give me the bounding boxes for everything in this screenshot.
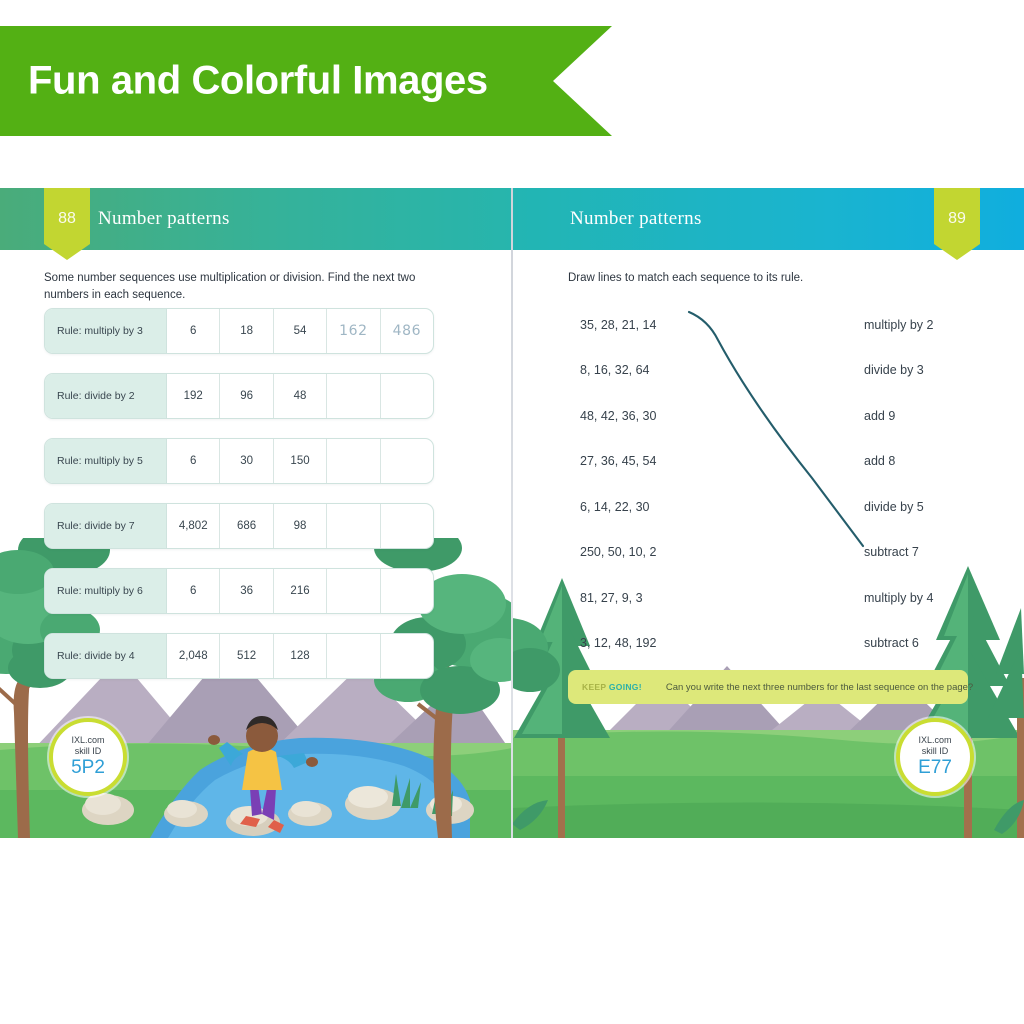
sequence-item[interactable]: 35, 28, 21, 14 xyxy=(580,302,656,348)
number-cell[interactable]: 192 xyxy=(167,374,220,418)
sequence-row: Rule: multiply by 6636216 xyxy=(44,568,434,614)
instruction-right: Draw lines to match each sequence to its… xyxy=(568,270,968,287)
page-title-right: Number patterns xyxy=(570,208,702,230)
ixl-skill-badge-left: IXL.com skill ID 5P2 xyxy=(49,718,127,796)
number-cell[interactable]: 686 xyxy=(220,504,273,548)
sequence-item[interactable]: 8, 16, 32, 64 xyxy=(580,348,656,394)
answer-cell[interactable]: 162 xyxy=(327,309,380,353)
sequence-item[interactable]: 48, 42, 36, 30 xyxy=(580,393,656,439)
rule-cell: Rule: multiply by 5 xyxy=(45,439,167,483)
rule-cell: Rule: multiply by 3 xyxy=(45,309,167,353)
number-cell[interactable] xyxy=(327,504,380,548)
rule-item[interactable]: multiply by 4 xyxy=(864,575,933,621)
number-cell[interactable]: 30 xyxy=(220,439,273,483)
sequence-row: Rule: divide by 21929648 xyxy=(44,373,434,419)
rule-item[interactable]: divide by 3 xyxy=(864,348,933,394)
rule-cell: Rule: divide by 7 xyxy=(45,504,167,548)
number-cell[interactable]: 36 xyxy=(220,569,273,613)
sequence-item[interactable]: 250, 50, 10, 2 xyxy=(580,530,656,576)
sequence-row: Rule: multiply by 361854162486 xyxy=(44,308,434,354)
sequence-item[interactable]: 27, 36, 45, 54 xyxy=(580,439,656,485)
number-cell[interactable] xyxy=(381,504,433,548)
number-cell[interactable] xyxy=(381,569,433,613)
rule-cell: Rule: divide by 4 xyxy=(45,634,167,678)
keep-going-label-first: KEEP xyxy=(582,682,606,692)
badge-skill-id-right: E77 xyxy=(918,758,952,779)
sequence-row: Rule: multiply by 5630150 xyxy=(44,438,434,484)
rule-item[interactable]: subtract 6 xyxy=(864,621,933,667)
sequence-row: Rule: divide by 42,048512128 xyxy=(44,633,434,679)
sequence-table: Rule: multiply by 361854162486Rule: divi… xyxy=(44,308,434,698)
badge-label-right: skill ID xyxy=(922,746,949,757)
keep-going-label: KEEP GOING! xyxy=(568,682,642,692)
rule-cell: Rule: divide by 2 xyxy=(45,374,167,418)
badge-site-right: IXL.com xyxy=(918,735,951,746)
badge-label-left: skill ID xyxy=(75,746,102,757)
keep-going-callout: KEEP GOING! Can you write the next three… xyxy=(568,670,968,704)
number-cell[interactable] xyxy=(381,439,433,483)
badge-site-left: IXL.com xyxy=(71,735,104,746)
number-cell[interactable] xyxy=(327,634,380,678)
page-number-right: 89 xyxy=(934,210,980,228)
sequence-list: 35, 28, 21, 148, 16, 32, 6448, 42, 36, 3… xyxy=(580,302,656,666)
sequence-item[interactable]: 6, 14, 22, 30 xyxy=(580,484,656,530)
banner-title: Fun and Colorful Images xyxy=(28,59,488,104)
number-cell[interactable]: 96 xyxy=(220,374,273,418)
number-cell[interactable]: 2,048 xyxy=(167,634,220,678)
section-banner: Fun and Colorful Images xyxy=(0,26,612,136)
keep-going-label-second: GOING! xyxy=(609,682,642,692)
number-cell[interactable]: 18 xyxy=(220,309,273,353)
number-cell[interactable] xyxy=(327,374,380,418)
rule-item[interactable]: subtract 7 xyxy=(864,530,933,576)
rule-item[interactable]: add 9 xyxy=(864,393,933,439)
rule-cell: Rule: multiply by 6 xyxy=(45,569,167,613)
rule-list: multiply by 2divide by 3add 9add 8divide… xyxy=(864,302,933,666)
page-number-left: 88 xyxy=(44,210,90,228)
number-cell[interactable] xyxy=(327,569,380,613)
number-cell[interactable]: 150 xyxy=(274,439,327,483)
number-cell[interactable]: 54 xyxy=(274,309,327,353)
number-cell[interactable] xyxy=(381,634,433,678)
sequence-row: Rule: divide by 74,80268698 xyxy=(44,503,434,549)
rule-item[interactable]: add 8 xyxy=(864,439,933,485)
number-cell[interactable]: 4,802 xyxy=(167,504,220,548)
answer-cell[interactable]: 486 xyxy=(381,309,433,353)
rule-item[interactable]: multiply by 2 xyxy=(864,302,933,348)
rule-item[interactable]: divide by 5 xyxy=(864,484,933,530)
number-cell[interactable]: 128 xyxy=(274,634,327,678)
number-cell[interactable]: 6 xyxy=(167,309,220,353)
number-cell[interactable]: 48 xyxy=(274,374,327,418)
number-cell[interactable]: 512 xyxy=(220,634,273,678)
number-cell[interactable]: 216 xyxy=(274,569,327,613)
keep-going-text: Can you write the next three numbers for… xyxy=(666,682,973,693)
number-cell[interactable]: 6 xyxy=(167,439,220,483)
ixl-skill-badge-right: IXL.com skill ID E77 xyxy=(896,718,974,796)
page-title-left: Number patterns xyxy=(98,208,230,230)
number-cell[interactable]: 6 xyxy=(167,569,220,613)
instruction-left: Some number sequences use multiplication… xyxy=(44,270,439,303)
badge-skill-id-left: 5P2 xyxy=(71,758,105,779)
number-cell[interactable]: 98 xyxy=(274,504,327,548)
page-gutter xyxy=(511,188,513,838)
number-cell[interactable] xyxy=(381,374,433,418)
sequence-item[interactable]: 3, 12, 48, 192 xyxy=(580,621,656,667)
number-cell[interactable] xyxy=(327,439,380,483)
sequence-item[interactable]: 81, 27, 9, 3 xyxy=(580,575,656,621)
workbook-spread: Number patterns 88 Some number sequences… xyxy=(0,188,1024,838)
